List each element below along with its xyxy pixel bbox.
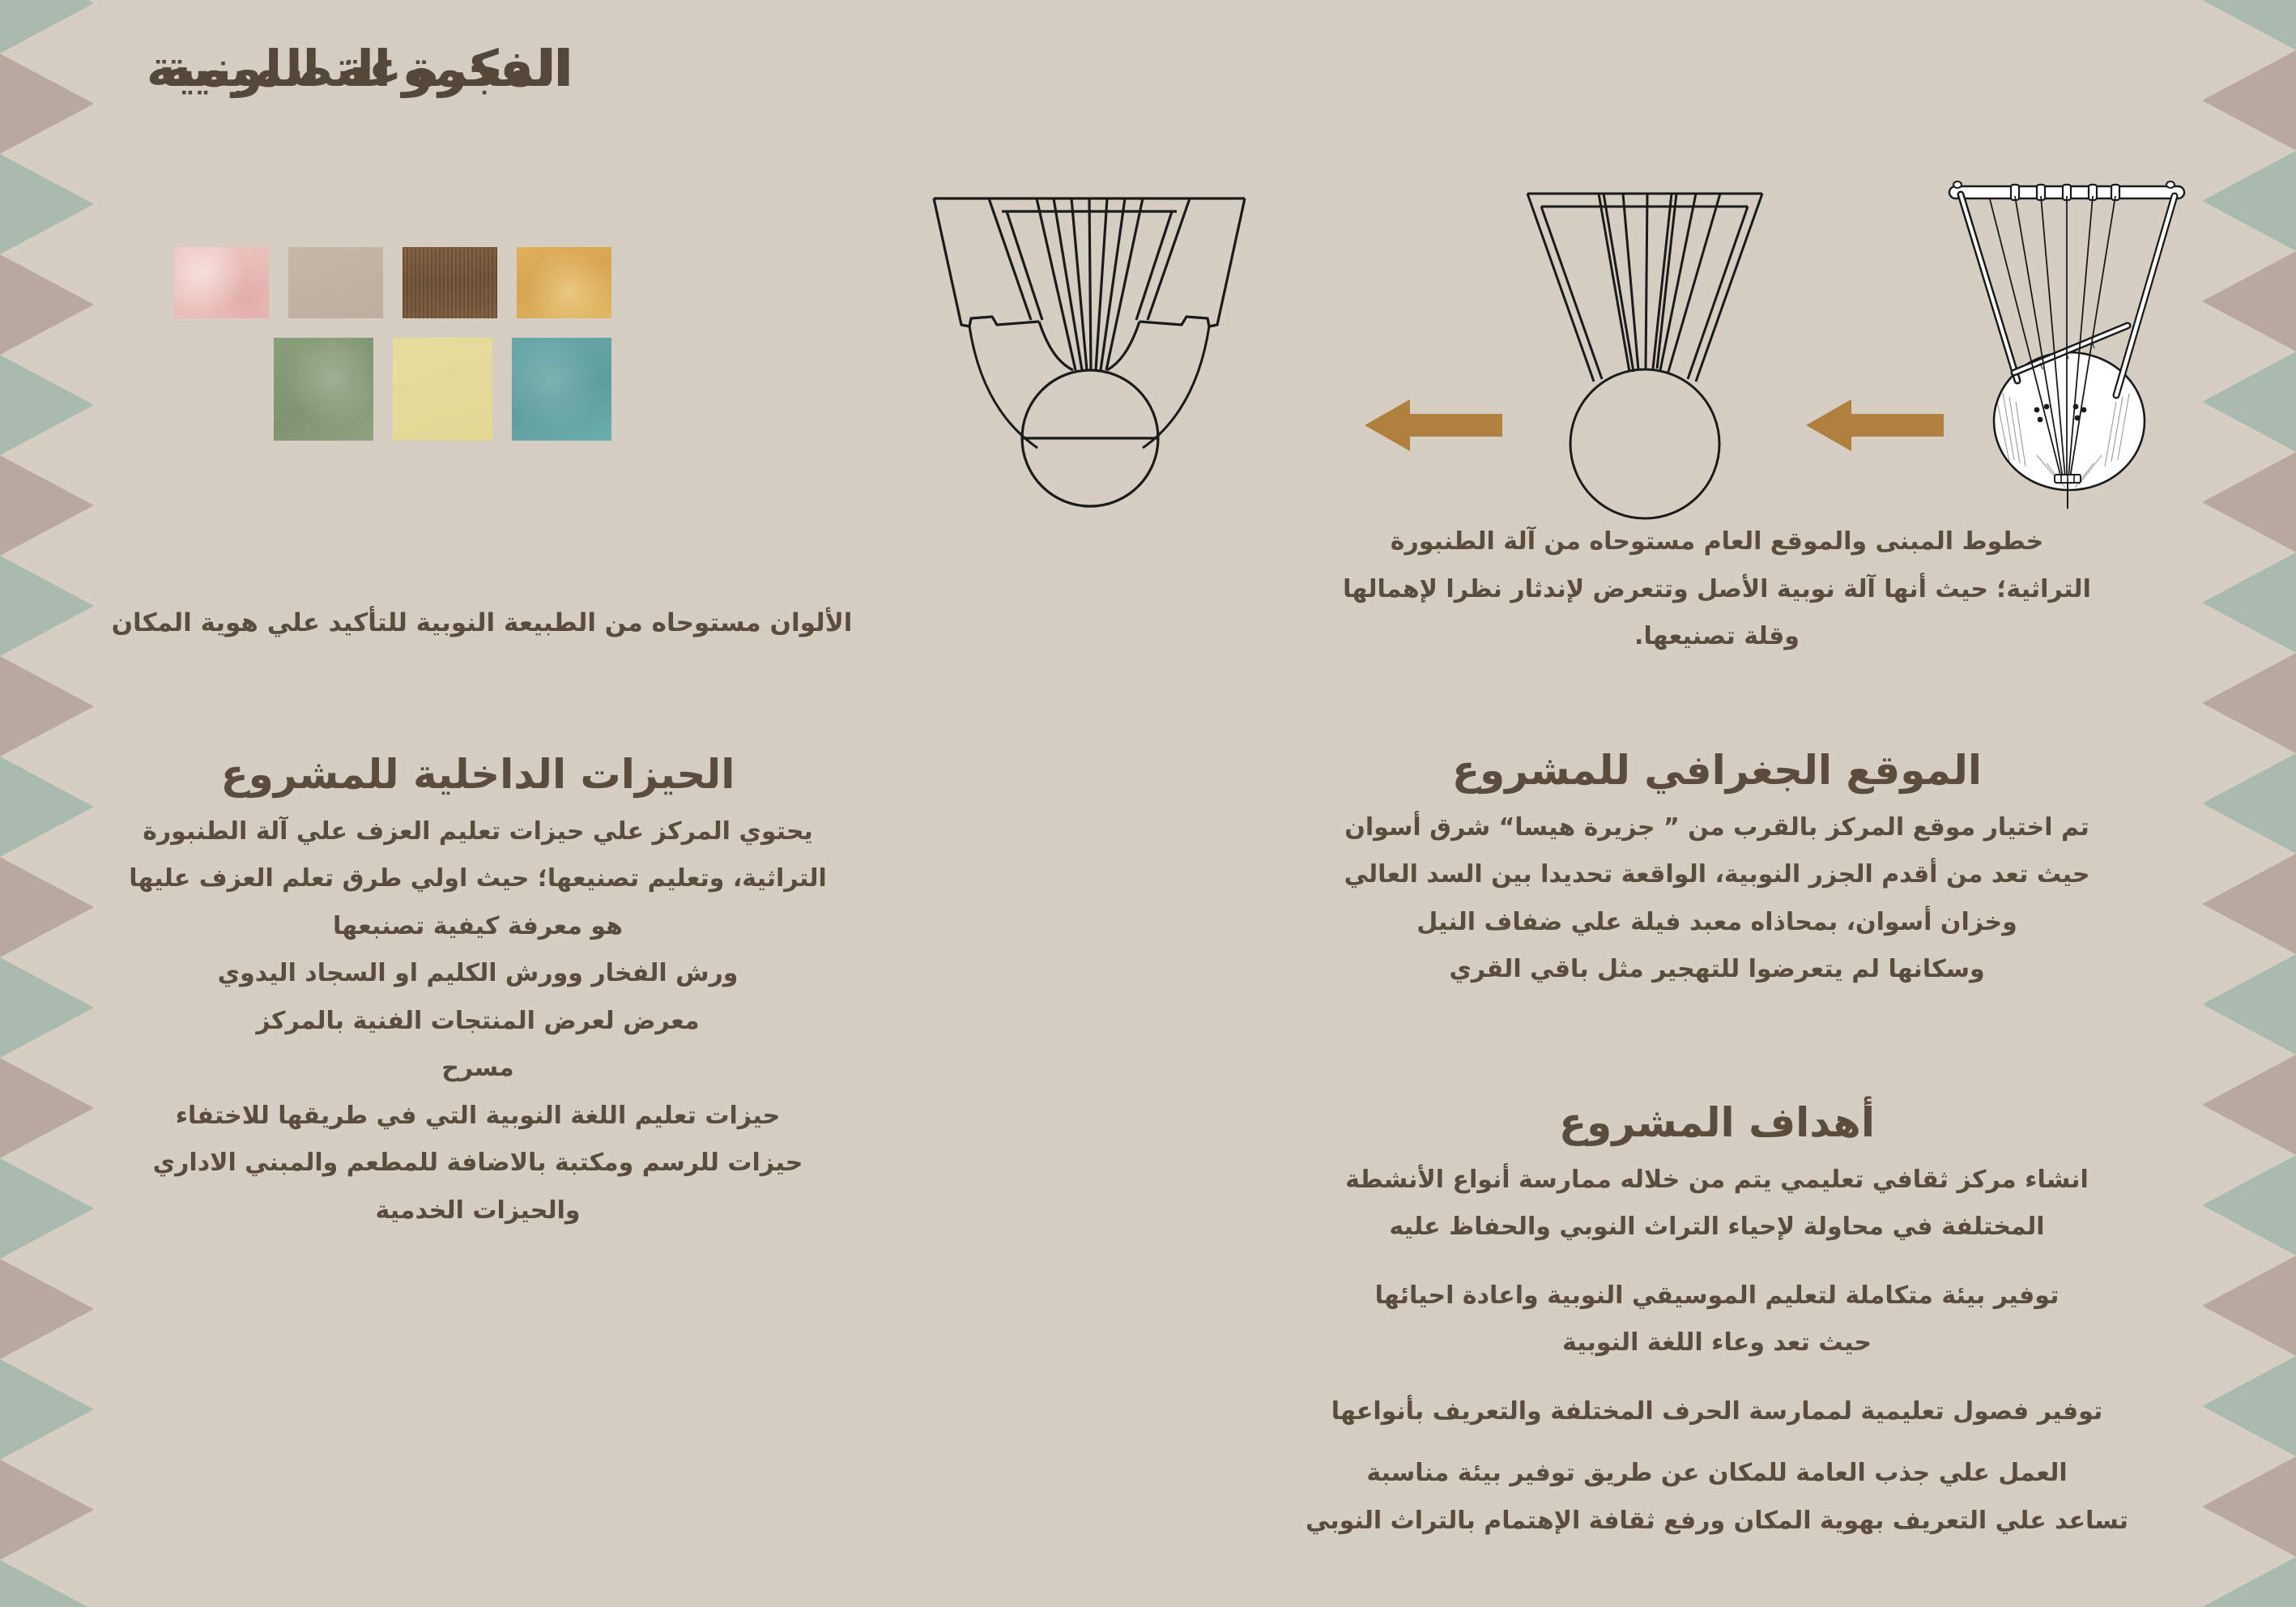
geographic-location-line-3: وخزان أسوان، بمحاذاه معبد فيلة علي ضفاف … [1259, 899, 2175, 947]
tanbura-instrument-sketch [1940, 154, 2199, 510]
left-triangle-border [0, 0, 97, 1607]
project-goals-line-6: العمل علي جذب العامة للمكان عن طريق توفي… [1259, 1450, 2175, 1498]
design-concept-line-2: التراثية؛ حيث أنها آلة نوبية الأصل وتتعر… [1259, 566, 2175, 614]
interior-spaces-line-7: حيزات تعليم اللغة النوبية التي في طريقها… [89, 1093, 867, 1140]
flow-arrow-left-2 [1806, 393, 1944, 461]
ochre-gold-swatch [517, 247, 611, 318]
taupe-swatch [288, 247, 383, 318]
project-goals-line-7: تساعد علي التعريف بهوية المكان ورفع ثقاف… [1259, 1498, 2175, 1545]
dusty-pink-swatch [174, 247, 269, 318]
geographic-location-title: الموقع الجغرافي للمشروع [1259, 745, 2175, 796]
geographic-location-line-2: حيث تعد من أقدم الجزر النوبية، الواقعة ت… [1259, 851, 2175, 899]
project-goals-block: أهداف المشروع انشاء مركز ثقافي تعليمي يت… [1259, 1098, 2175, 1545]
swatch-row-bottom [174, 338, 611, 441]
building-plan-fan-diagram [911, 166, 1267, 506]
color-palette-caption-block: الألوان مستوحاه من الطبيعة النوبية للتأك… [49, 603, 915, 644]
color-palette-title: المجموعة اللونية [162, 39, 573, 98]
interior-spaces-line-8: حيزات للرسم ومكتبة بالاضافة للمطعم والمب… [89, 1140, 867, 1187]
design-concept-line-1: خطوط المبنى والموقع العام مستوحاه من آلة… [1259, 518, 2175, 566]
interior-spaces-line-4: ورش الفخار وورش الكليم او السجاد اليدوي [89, 950, 867, 998]
geographic-location-block: الموقع الجغرافي للمشروع تم اختيار موقع ا… [1259, 745, 2175, 994]
color-palette-caption: الألوان مستوحاه من الطبيعة النوبية للتأك… [49, 603, 915, 644]
flow-arrow-left-1 [1365, 393, 1502, 461]
interior-spaces-line-5: معرض لعرض المنتجات الفنية بالمركز [89, 998, 867, 1046]
design-concept-diagram-flow [911, 158, 2207, 514]
design-concept-text-block: خطوط المبنى والموقع العام مستوحاه من آلة… [1259, 518, 2175, 661]
project-goals-line-1: انشاء مركز ثقافي تعليمي يتم من خلاله مما… [1259, 1157, 2175, 1204]
interior-spaces-line-9: والحيزات الخدمية [89, 1187, 867, 1235]
project-goals-line-4: حيث تعد وعاء اللغة النوبية [1259, 1319, 2175, 1367]
interior-spaces-line-3: هو معرفة كيفية تصنبعها [89, 903, 867, 951]
tanbura-abstracted-lines-diagram [1506, 164, 1830, 513]
project-goals-line-3: توفير بيئة متكاملة لتعليم الموسيقي النوب… [1259, 1272, 2175, 1320]
interior-spaces-line-2: التراثية، وتعليم تصنيعها؛ حيث اولي طرق ت… [89, 855, 867, 903]
interior-spaces-line-1: يحتوي المركز علي حيزات تعليم العزف علي آ… [89, 808, 867, 856]
project-goals-title: أهداف المشروع [1259, 1098, 2175, 1149]
teal-swatch [512, 338, 611, 441]
project-goals-line-2: المختلفة في محاولة لإحياء التراث النوبي … [1259, 1204, 2175, 1251]
interior-spaces-block: الحيزات الداخلية للمشروع يحتوي المركز عل… [89, 749, 867, 1234]
geographic-location-line-4: وسكانها لم يتعرضوا للتهجير مثل باقي القر… [1259, 946, 2175, 994]
presentation-board: الفكرة التصميمية المجموعة اللونية [0, 0, 2296, 1607]
geographic-location-line-1: تم اختيار موقع المركز بالقرب من ” جزيرة … [1259, 804, 2175, 852]
pale-yellow-swatch [393, 338, 492, 441]
interior-spaces-title: الحيزات الداخلية للمشروع [89, 749, 867, 800]
project-goals-line-5: توفير فصول تعليمية لممارسة الحرف المختلف… [1259, 1388, 2175, 1436]
design-concept-line-3: وقلة تصنيعها. [1259, 613, 2175, 661]
interior-spaces-line-6: مسرح [89, 1045, 867, 1093]
color-palette-swatch-grid [174, 247, 611, 460]
wood-brown-swatch [403, 247, 497, 318]
swatch-row-top [174, 247, 611, 318]
sage-green-swatch [274, 338, 373, 441]
